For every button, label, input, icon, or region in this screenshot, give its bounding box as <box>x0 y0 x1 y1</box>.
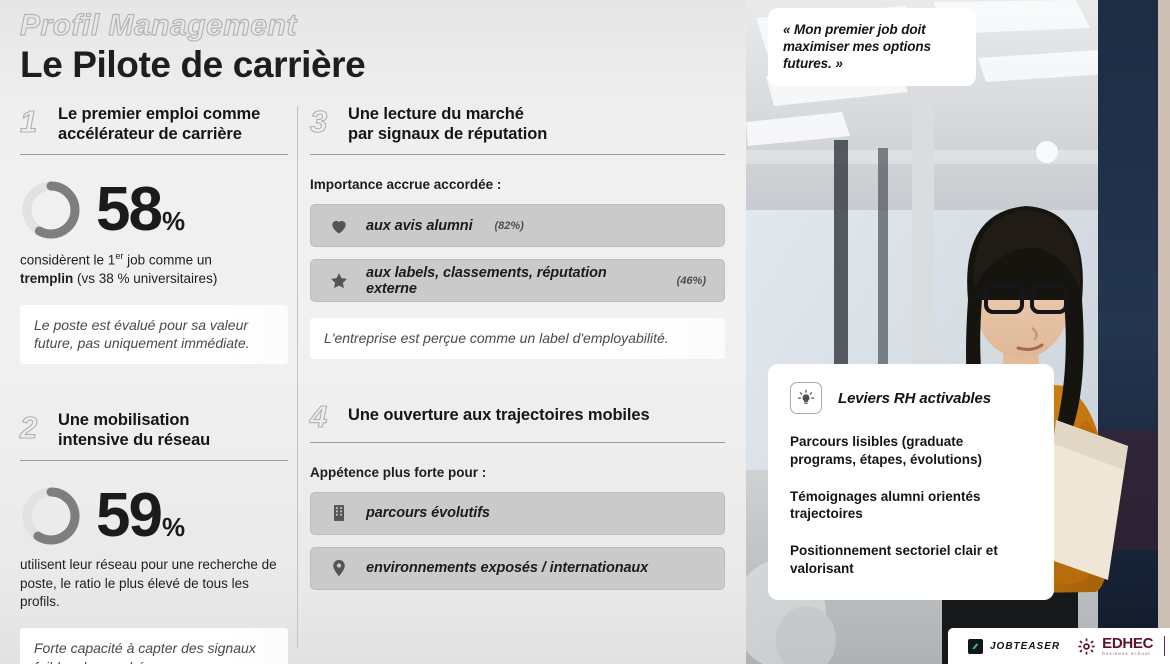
section-4-header: 4 Une ouverture aux trajectoires mobiles <box>310 399 725 432</box>
section-2-stat-value: 59 <box>96 489 161 544</box>
section-3-quote: L'entreprise est perçue comme un label d… <box>310 318 725 358</box>
bar-parcours-evolutifs[interactable]: parcours évolutifs <box>310 492 725 535</box>
jobteaser-mark-icon <box>968 639 983 654</box>
section-1-title: Le premier emploi comme accélérateur de … <box>58 104 260 144</box>
section-3-rule <box>310 154 725 155</box>
section-1-stat: 58% <box>20 179 288 241</box>
section-1-stat-value-group: 58% <box>96 183 185 238</box>
quote-card: « Mon premier job doit maximiser mes opt… <box>768 8 976 86</box>
edhec-text-block: EDHEC business school <box>1102 636 1153 657</box>
section-4: 4 Une ouverture aux trajectoires mobiles… <box>310 399 725 590</box>
section-4-number: 4 <box>310 401 334 432</box>
section-1-quote: Le poste est évalué pour sa valeur futur… <box>20 305 288 364</box>
bar-labels-classements[interactable]: aux labels, classements, réputation exte… <box>310 259 725 302</box>
location-pin-icon <box>329 558 349 578</box>
section-2-title-line1: Une mobilisation <box>58 410 210 430</box>
section-1-title-line1: Le premier emploi comme <box>58 104 260 124</box>
bar-avis-alumni[interactable]: aux avis alumni (82%) <box>310 204 725 247</box>
page-title: Le Pilote de carrière <box>20 44 720 87</box>
section-1-stat-unit: % <box>162 210 185 233</box>
section-3: 3 Une lecture du marché par signaux de r… <box>310 104 725 359</box>
kicker-text: Profil Management <box>20 10 720 42</box>
section-2: 2 Une mobilisation intensive du réseau 5… <box>20 410 288 664</box>
section-4-title: Une ouverture aux trajectoires mobiles <box>348 405 650 425</box>
section-1-rule <box>20 154 288 155</box>
left-column: 1 Le premier emploi comme accélérateur d… <box>20 104 288 664</box>
edhec-sublabel: business school <box>1102 652 1153 657</box>
bar-labels-classements-label: aux labels, classements, réputation exte… <box>366 265 655 297</box>
section-3-header: 3 Une lecture du marché par signaux de r… <box>310 104 725 144</box>
lever-item: Parcours lisibles (graduate programs, ét… <box>790 433 1032 469</box>
section-1-desc-rest: (vs 38 % universitaires) <box>73 271 217 286</box>
section-3-title: Une lecture du marché par signaux de rép… <box>348 104 547 144</box>
bar-avis-alumni-label: aux avis alumni <box>366 218 473 234</box>
logo-divider <box>1164 636 1165 656</box>
footer-logo-bar: JOBTEASER <box>948 628 1170 664</box>
donut-chart-58 <box>20 179 82 241</box>
bar-parcours-evolutifs-label: parcours évolutifs <box>366 505 490 521</box>
section-3-lead-label: Importance accrue accordée : <box>310 177 725 192</box>
column-divider <box>297 106 298 648</box>
jobteaser-label: JOBTEASER <box>990 641 1060 652</box>
section-4-rule <box>310 442 725 443</box>
section-2-title: Une mobilisation intensive du réseau <box>58 410 210 450</box>
section-3-title-line1: Une lecture du marché <box>348 104 547 124</box>
section-1-stat-value: 58 <box>96 183 161 238</box>
edhec-logo: EDHEC business school <box>1078 636 1165 657</box>
section-3-number: 3 <box>310 106 334 137</box>
section-3-title-line2: par signaux de réputation <box>348 124 547 144</box>
star-icon <box>329 271 349 291</box>
section-2-quote: Forte capacité à capter des signaux faib… <box>20 628 288 664</box>
building-icon <box>329 503 349 523</box>
section-1-desc-b: job comme un <box>123 253 212 268</box>
edhec-label: EDHEC <box>1102 636 1153 651</box>
section-2-stat-desc: utilisent leur réseau pour une recherche… <box>20 556 288 612</box>
levers-card: Leviers RH activables Parcours lisibles … <box>768 364 1054 600</box>
levers-card-title: Leviers RH activables <box>838 390 991 407</box>
content-area: Profil Management Le Pilote de carrière … <box>0 0 746 664</box>
section-1-desc-bold: tremplin <box>20 271 73 286</box>
infographic-page: Profil Management Le Pilote de carrière … <box>0 0 1170 664</box>
section-2-stat: 59% <box>20 485 288 547</box>
lever-item: Positionnement sectoriel clair et valori… <box>790 542 1032 578</box>
section-4-title-line1: Une ouverture aux trajectoires mobiles <box>348 405 650 425</box>
bar-environnements-exposes-label: environnements exposés / internationaux <box>366 560 648 576</box>
section-4-lead-label: Appétence plus forte pour : <box>310 465 725 480</box>
quote-card-text: « Mon premier job doit maximiser mes opt… <box>783 21 961 72</box>
section-1-header: 1 Le premier emploi comme accélérateur d… <box>20 104 288 144</box>
levers-card-header: Leviers RH activables <box>790 382 1032 414</box>
section-2-stat-unit: % <box>162 516 185 539</box>
bar-environnements-exposes[interactable]: environnements exposés / internationaux <box>310 547 725 590</box>
bar-labels-classements-pct: (46%) <box>677 275 706 287</box>
section-2-number: 2 <box>20 412 44 443</box>
jobteaser-logo: JOBTEASER <box>968 639 1060 654</box>
section-1-desc-a: considèrent le 1 <box>20 253 115 268</box>
section-1-title-line2: accélérateur de carrière <box>58 124 260 144</box>
edhec-mark-icon <box>1078 638 1095 655</box>
heart-icon <box>329 216 349 236</box>
section-2-title-line2: intensive du réseau <box>58 430 210 450</box>
lightbulb-icon-box <box>790 382 822 414</box>
right-column: 3 Une lecture du marché par signaux de r… <box>310 104 725 590</box>
photo-panel: « Mon premier job doit maximiser mes opt… <box>746 0 1170 664</box>
section-1-stat-desc: considèrent le 1er job comme un tremplin… <box>20 250 288 289</box>
title-block: Profil Management Le Pilote de carrière <box>20 10 720 86</box>
section-2-rule <box>20 460 288 461</box>
donut-chart-59 <box>20 485 82 547</box>
lever-item: Témoignages alumni orientés trajectoires <box>790 488 1032 524</box>
section-1: 1 Le premier emploi comme accélérateur d… <box>20 104 288 364</box>
lightbulb-icon <box>797 389 815 407</box>
jobteaser-glyph-icon <box>971 642 980 651</box>
section-2-header: 2 Une mobilisation intensive du réseau <box>20 410 288 450</box>
bar-avis-alumni-pct: (82%) <box>495 220 524 232</box>
section-1-number: 1 <box>20 106 44 137</box>
section-2-stat-value-group: 59% <box>96 489 185 544</box>
